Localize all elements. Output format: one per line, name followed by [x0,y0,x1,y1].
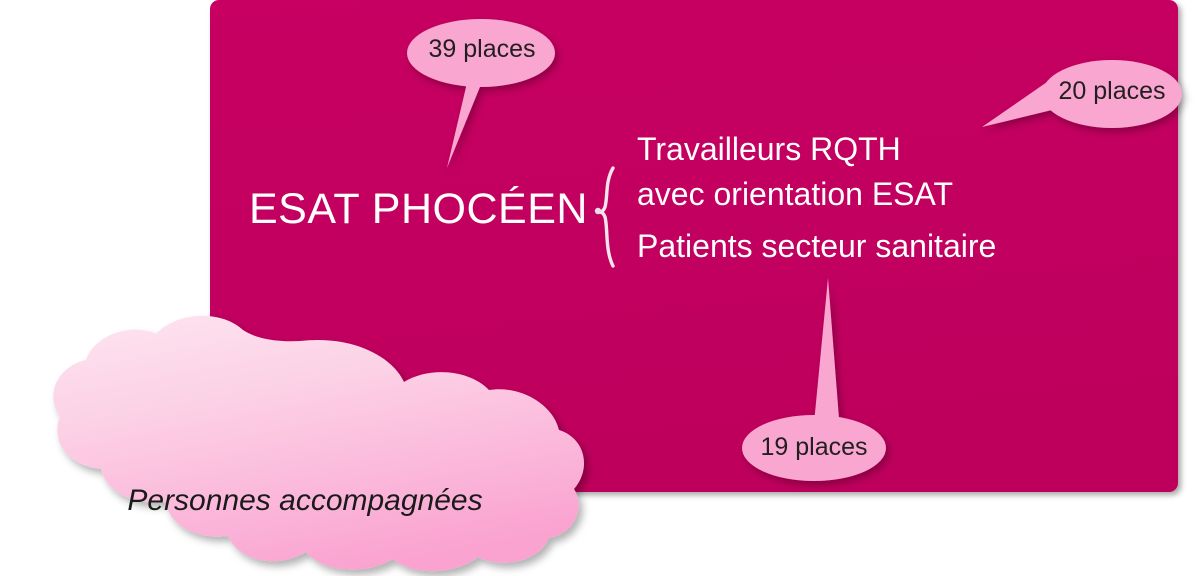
callout-label-39-places: 39 places [408,35,556,65]
detail-line-patients-secteur-sanitaire: Patients secteur sanitaire [637,228,996,266]
cloud-callout-label-line1: Personnes accompagnées [70,479,540,523]
detail-line-avec-orientation-esat: avec orientation ESAT [637,176,953,214]
page-title: ESAT PHOCÉEN [249,184,588,235]
callout-label-19-places: 19 places [740,433,888,463]
cloud-callout-label: Personnes accompagnées en situation de t… [70,392,540,576]
diagram-canvas: ESAT PHOCÉEN Travailleurs RQTH avec orie… [0,0,1200,576]
callout-label-20-places: 20 places [1042,77,1182,107]
detail-line-travailleurs-rqth: Travailleurs RQTH [637,131,901,169]
